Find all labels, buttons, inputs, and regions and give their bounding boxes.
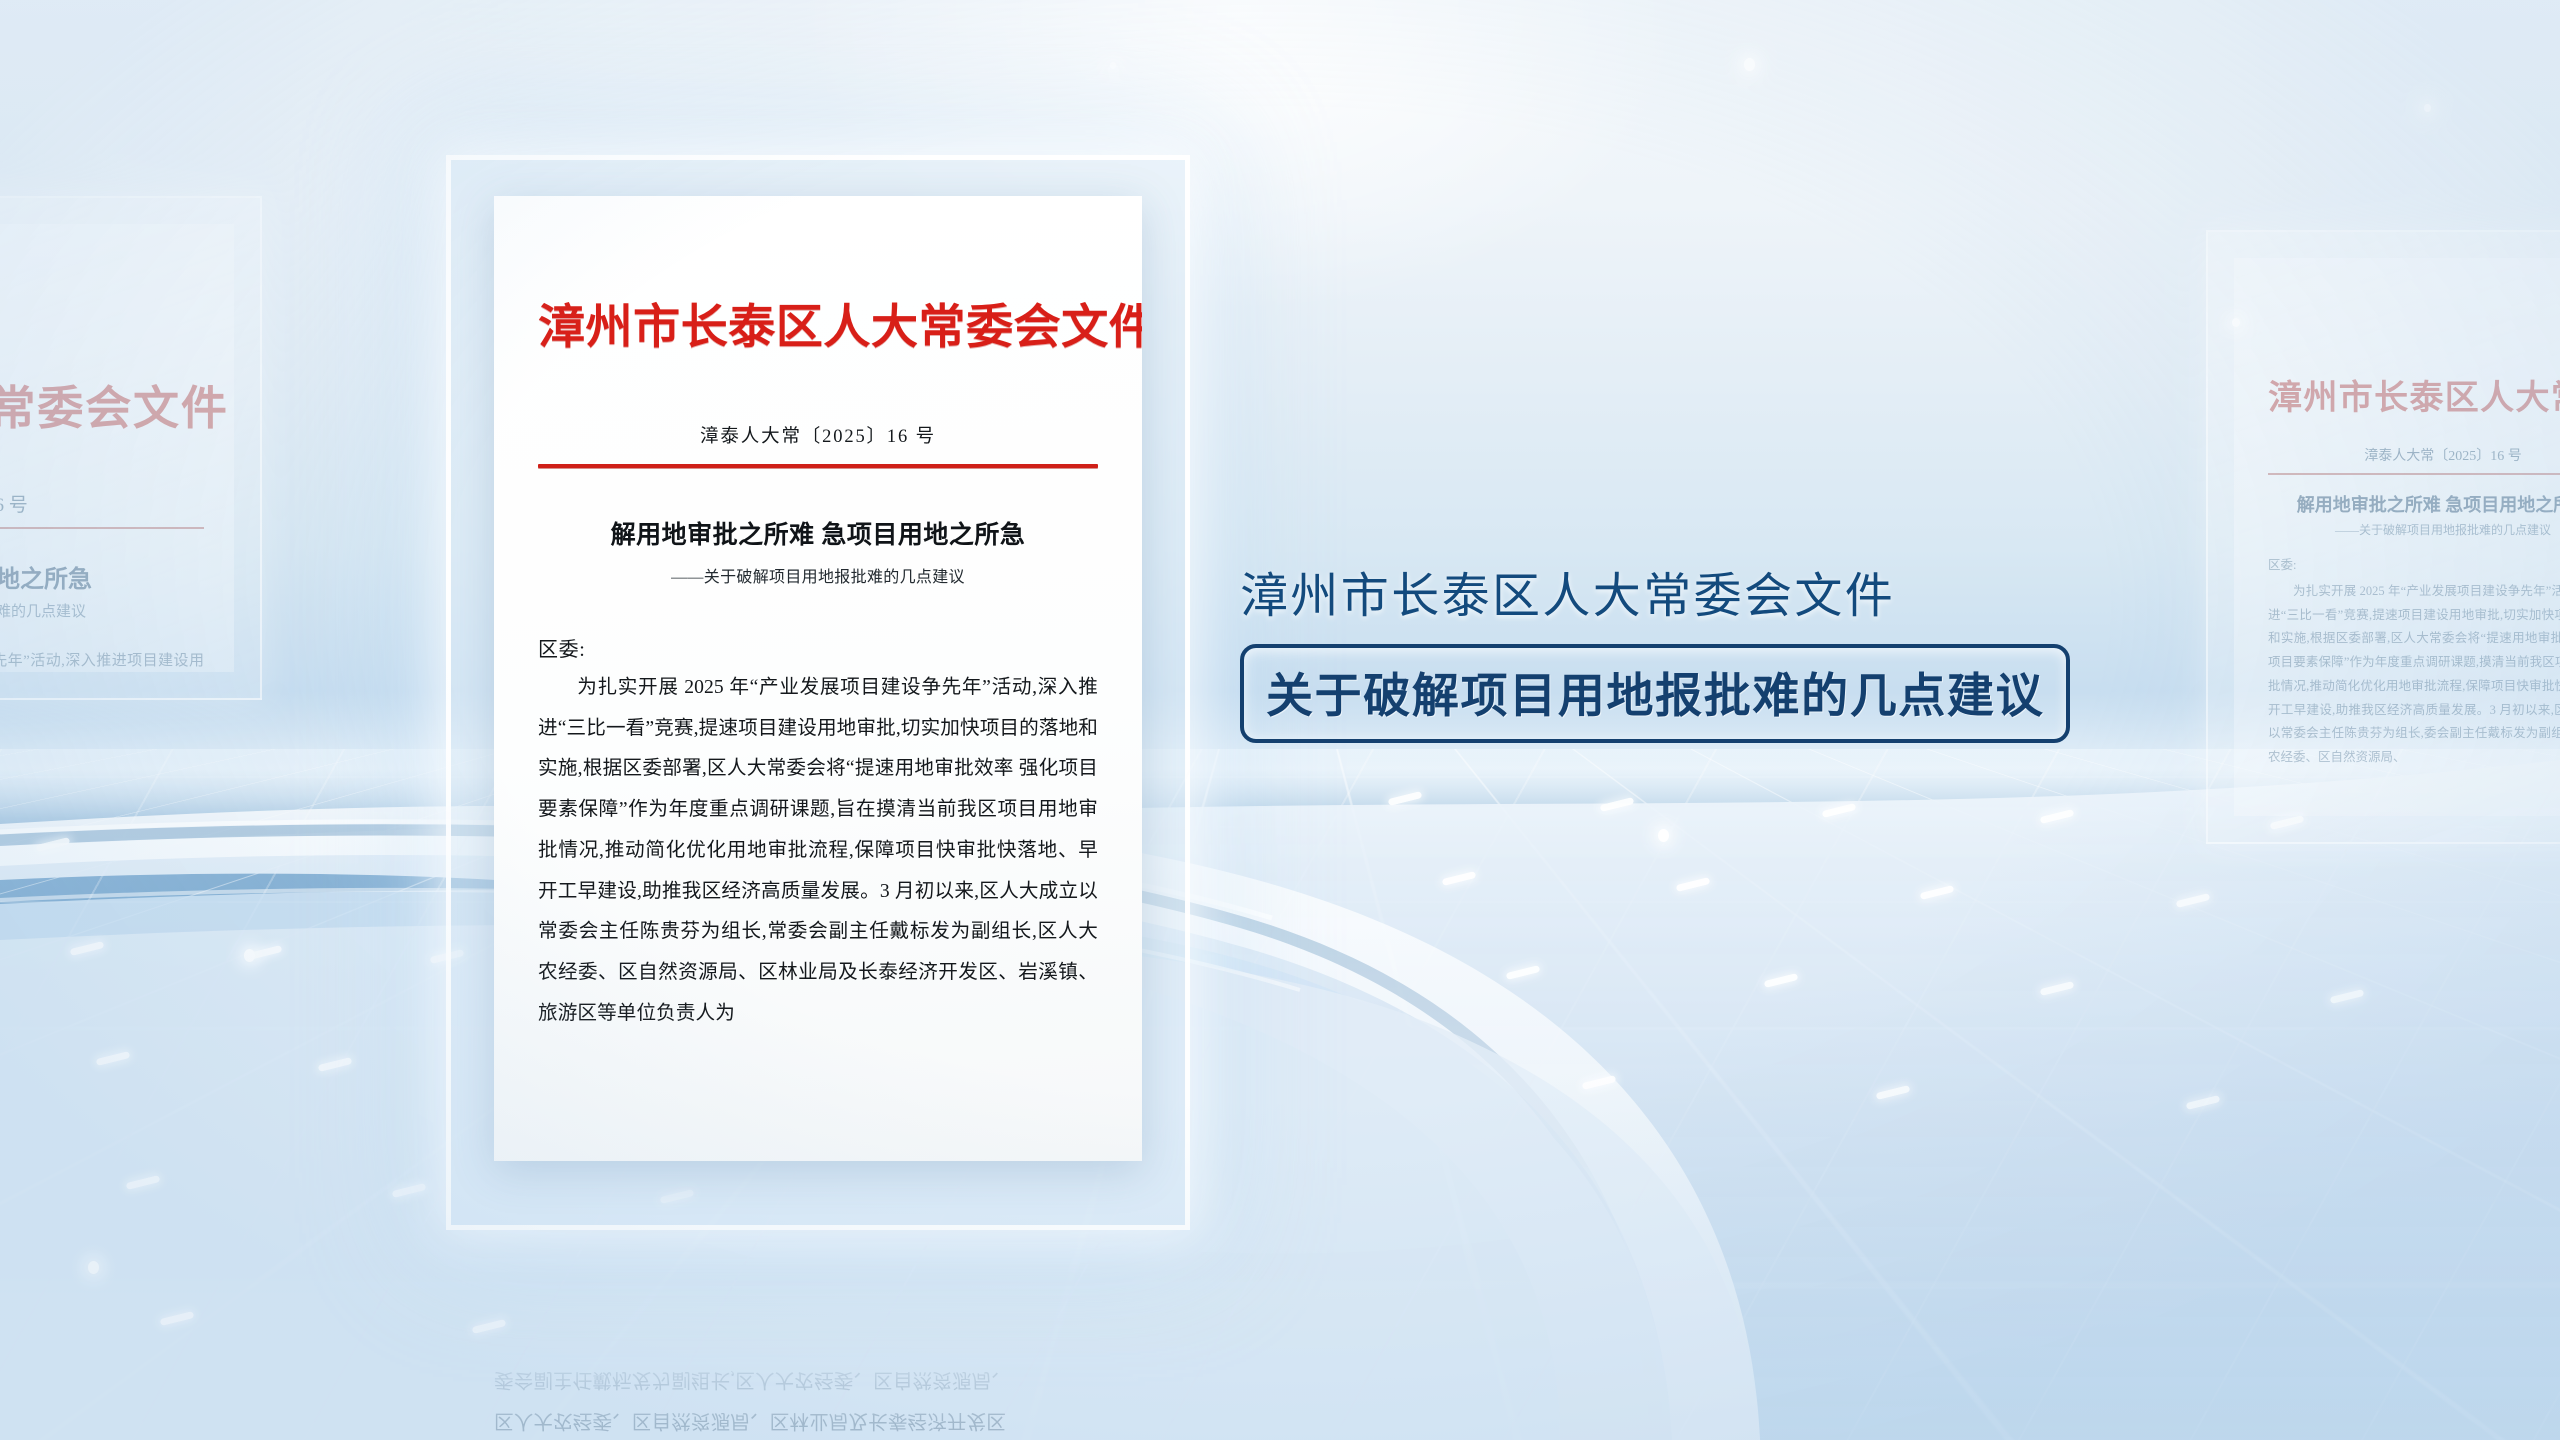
reflection-line-1: 区人大农经委、区自然资源局、区林业局及长泰经济开发区 [494, 1399, 1142, 1440]
ghost-subtitle-right: ——关于破解项目用地报批难的几点建议 [2268, 521, 2560, 538]
sky-spark [2424, 104, 2431, 112]
ghost-title-right: 解用地审批之所难 急项目用地之所急 [2268, 491, 2560, 517]
ghost-docnumber-right: 漳泰人大常〔2025〕16 号 [2268, 445, 2560, 465]
document-floor-reflection: 区人大农经委、区自然资源局、区林业局及长泰经济开发区 委会副主任戴标发为副组长,… [494, 1335, 1142, 1440]
sky-spark [1110, 62, 1116, 69]
ghost-masthead-left: 区人大常委会文件 [0, 372, 204, 438]
document-number: 漳泰人大常〔2025〕16 号 [538, 422, 1098, 448]
ghost-bodytext-left: “产业发展项目建设争先年”活动,深入推进项目建设用地审批,切实加快项目的落地和实… [0, 647, 204, 672]
scene: 区人大常委会文件 人大常〔2025〕16 号 所难 急项目用地之所急 关于破解项… [0, 0, 2560, 1440]
ghost-rule-left [0, 527, 204, 529]
callout-heading: 漳州市长泰区人大常委会文件 [1240, 556, 2100, 626]
ghost-title-left: 所难 急项目用地之所急 [0, 559, 204, 594]
main-document-page[interactable]: 漳州市长泰区人大常委会文件 漳泰人大常〔2025〕16 号 解用地审批之所难 急… [494, 196, 1142, 1161]
document-red-rule [538, 464, 1098, 468]
callout-boxed-label: 关于破解项目用地报批难的几点建议 [1266, 671, 2044, 723]
ghost-document-body-right: 漳州市长泰区人大常委会文件 漳泰人大常〔2025〕16 号 解用地审批之所难 急… [2234, 258, 2560, 816]
reflection-line-2: 委会副主任戴标发为副组长,区人大农经委、区自然资源局、 [494, 1359, 1142, 1400]
ghost-document-body-left: 区人大常委会文件 人大常〔2025〕16 号 所难 急项目用地之所急 关于破解项… [0, 224, 234, 672]
ghost-docnumber-left: 人大常〔2025〕16 号 [0, 490, 204, 517]
ghost-subtitle-left: 关于破解项目用地报批难的几点建议 [0, 600, 204, 621]
ghost-masthead-right: 漳州市长泰区人大常委会文件 [2268, 370, 2560, 419]
floor-dashes [0, 749, 2560, 1440]
document-body-text: 为扎实开展 2025 年“产业发展项目建设争先年”活动,深入推进“三比一看”竞赛… [538, 668, 1098, 1035]
ghost-rule-right [2268, 473, 2560, 475]
callout-boxed-banner[interactable]: 关于破解项目用地报批难的几点建议 [1240, 644, 2070, 743]
background-document-left[interactable]: 区人大常委会文件 人大常〔2025〕16 号 所难 急项目用地之所急 关于破解项… [0, 196, 262, 700]
document-salutation: 区委: [538, 633, 1098, 662]
document-title: 解用地审批之所难 急项目用地之所急 [538, 515, 1098, 551]
document-subtitle: ——关于破解项目用地报批难的几点建议 [538, 563, 1098, 587]
callout-block: 漳州市长泰区人大常委会文件 关于破解项目用地报批难的几点建议 [1240, 556, 2100, 743]
ghost-bodytext-right: 为扎实开展 2025 年“产业发展项目建设争先年”活动,深入推进“三比一看”竞赛… [2268, 580, 2560, 770]
sky-spark [1744, 58, 1755, 71]
ghost-salutation-right: 区委: [2268, 554, 2560, 578]
document-masthead: 漳州市长泰区人大常委会文件 [538, 304, 1098, 354]
background-document-right[interactable]: 漳州市长泰区人大常委会文件 漳泰人大常〔2025〕16 号 解用地审批之所难 急… [2206, 230, 2560, 844]
